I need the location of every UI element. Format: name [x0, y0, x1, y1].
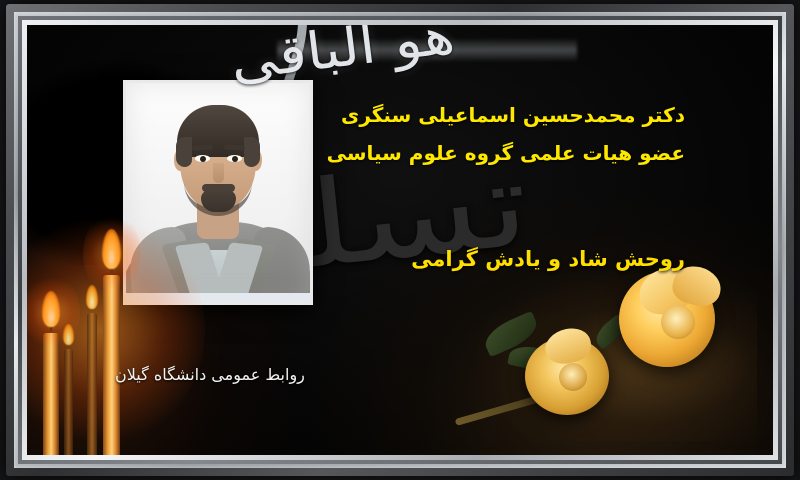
candle-back-left-flame [86, 285, 98, 309]
condolence-line: روحش شاد و یادش گرامی [411, 247, 685, 271]
frame-inner-mat: تسلیت [27, 25, 773, 455]
rose-lower-core [559, 363, 587, 391]
roses-group [467, 261, 767, 451]
candles-group [27, 195, 167, 455]
deceased-name: دکتر محمدحسین اسماعیلی سنگری [341, 103, 685, 127]
deceased-role: عضو هیات علمی گروه علوم سیاسی [327, 141, 685, 165]
rose-upper-core [661, 305, 695, 339]
poster-plate: تسلیت [27, 25, 773, 455]
issuer-line: روابط عمومی دانشگاه گیلان [115, 365, 305, 384]
condolence-poster: تسلیت [0, 0, 800, 480]
candle-back-right [64, 349, 73, 455]
candle-short [43, 333, 59, 455]
candle-back-right-flame [63, 324, 74, 345]
candle-back-left [87, 313, 97, 455]
candle-tall-halo [83, 213, 141, 295]
